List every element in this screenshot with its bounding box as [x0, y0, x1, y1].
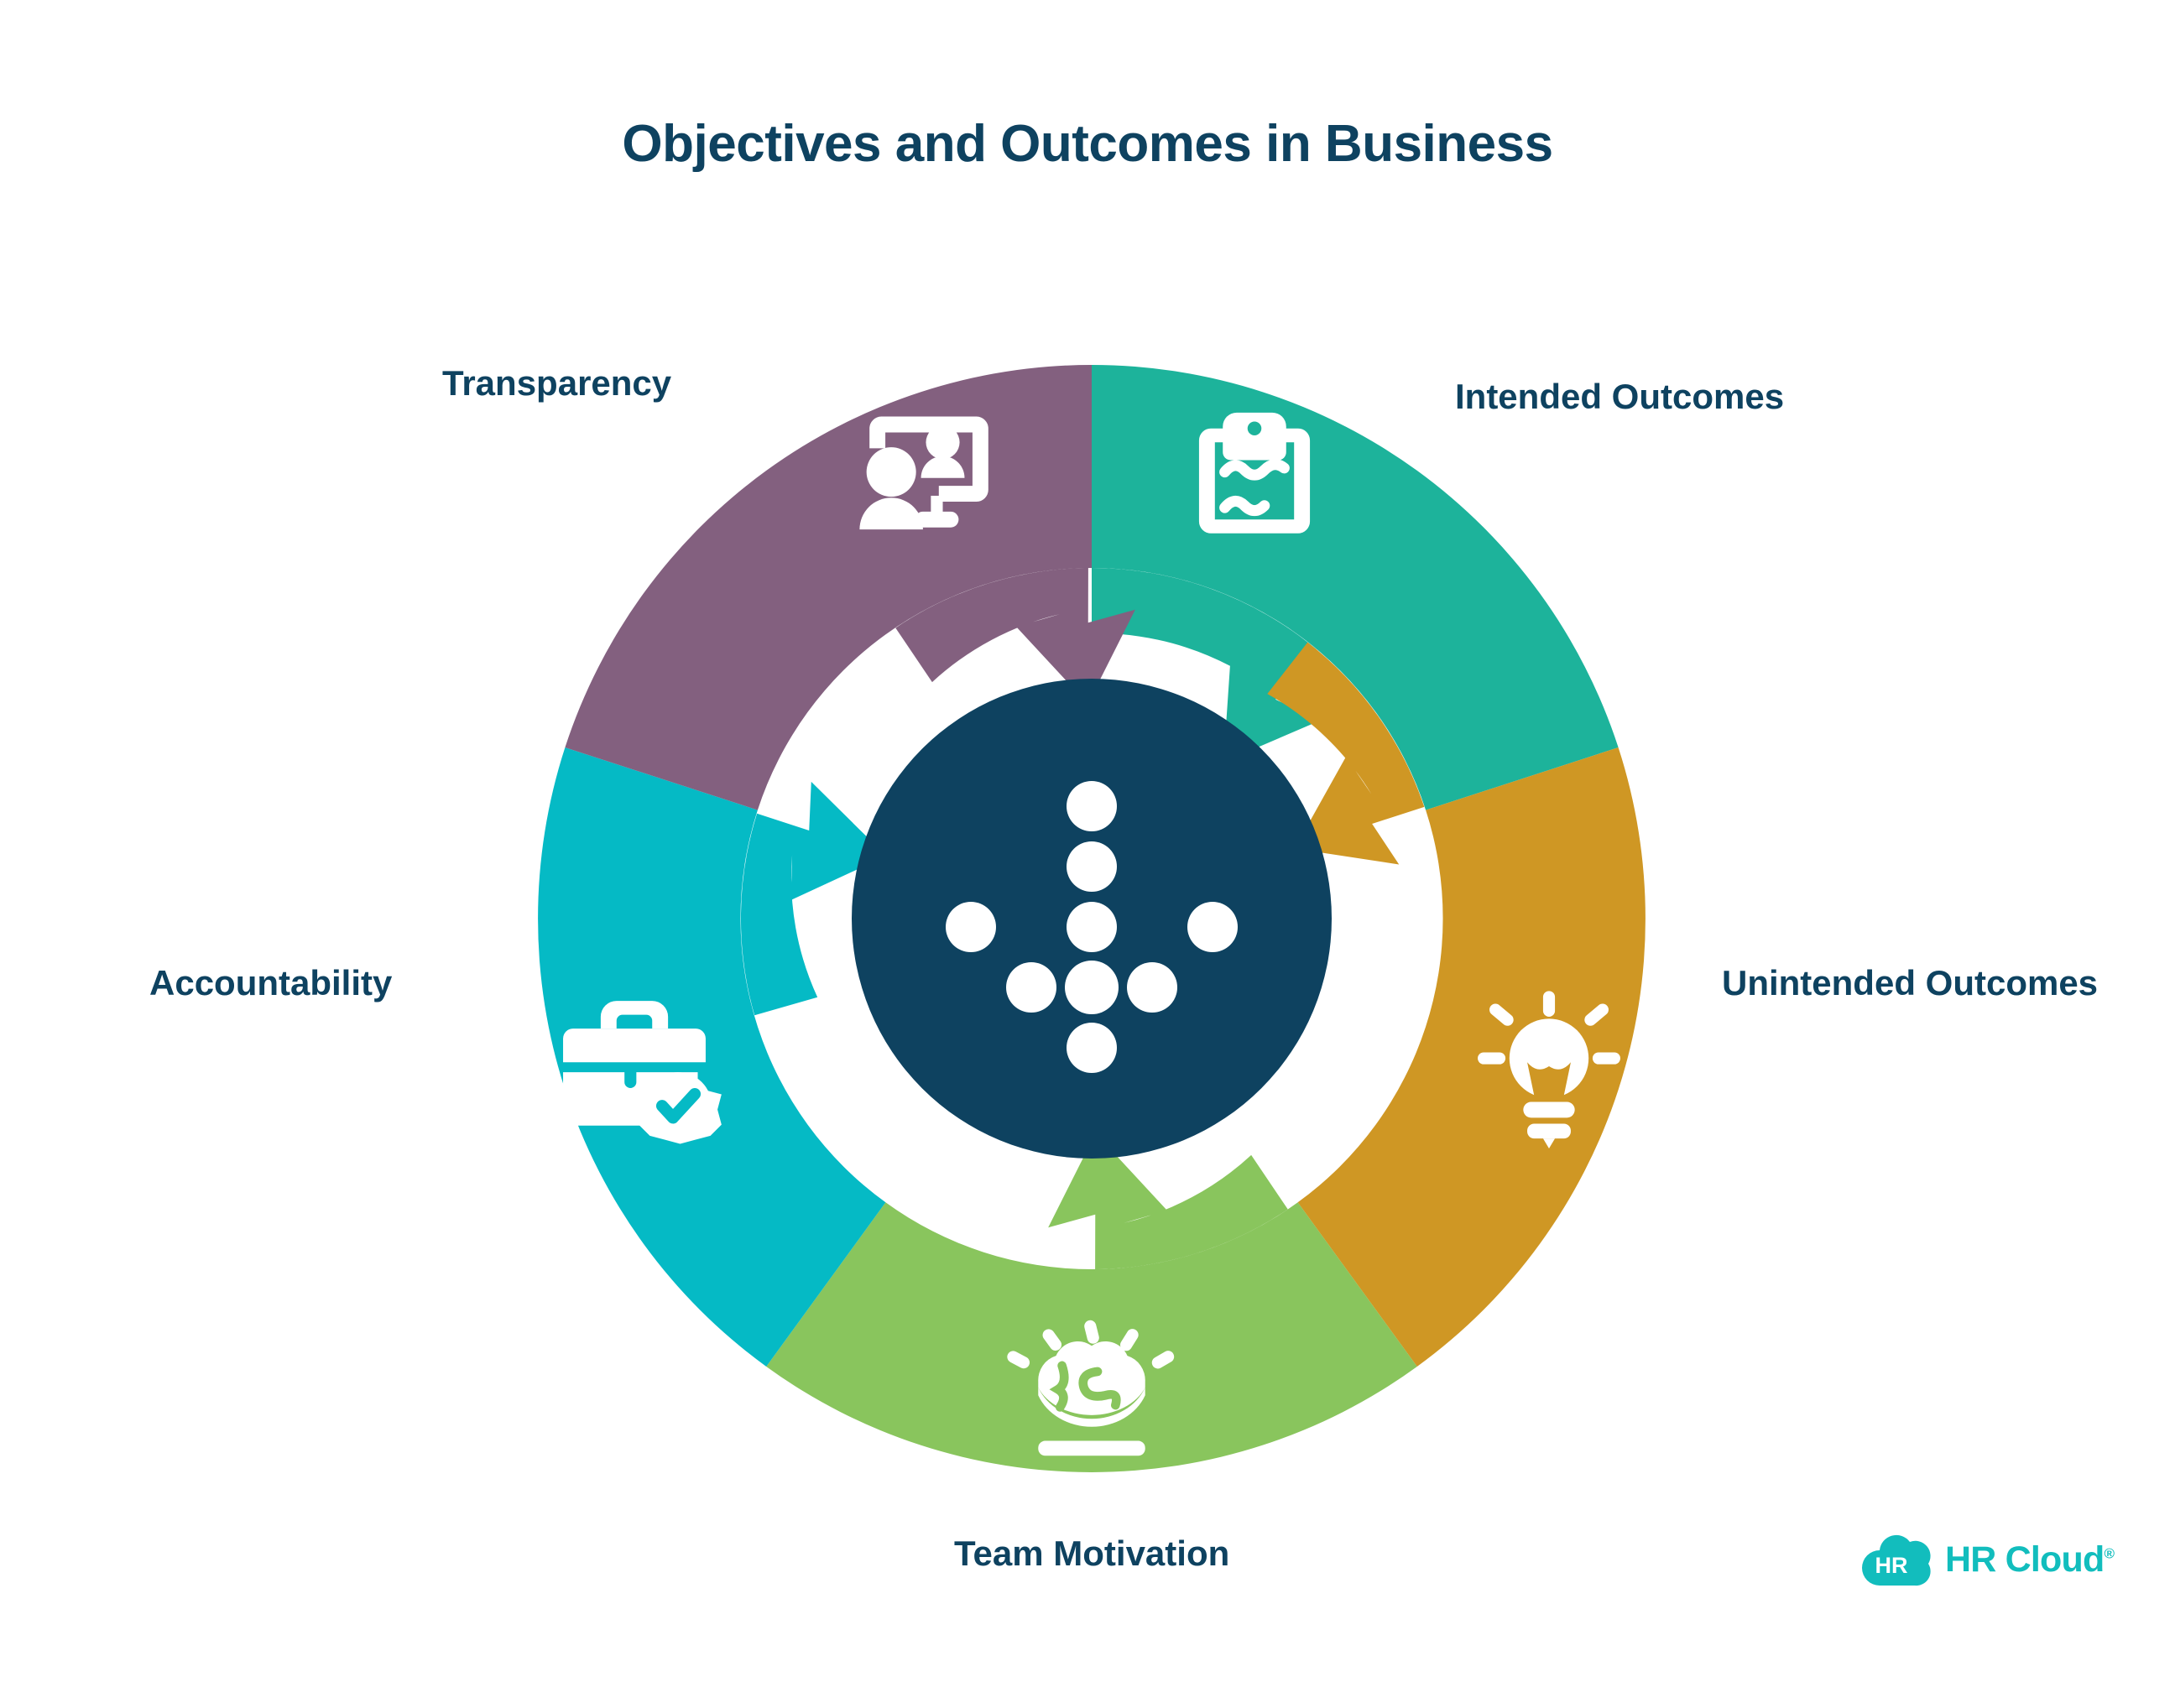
cloud-icon: HR [1861, 1532, 1933, 1587]
segment-label-intended-outcomes[interactable]: Intended Outcomes [1455, 377, 1784, 417]
segment-label-team-motivation[interactable]: Team Motivation [954, 1534, 1229, 1574]
donut-wheel-diagram [534, 361, 1650, 1476]
cloud-mark-text: HR [1875, 1553, 1908, 1578]
page-title: Objectives and Outcomes in Business [0, 114, 2175, 174]
segment-label-unintended-outcomes[interactable]: Unintended Outcomes [1722, 963, 2098, 1003]
segment-label-accountability[interactable]: Accountability [149, 963, 392, 1003]
segment-label-transparency[interactable]: Transparency [442, 363, 671, 404]
registered-mark: ® [2104, 1545, 2114, 1561]
hr-cloud-logo[interactable]: HR HR Cloud® [1861, 1532, 2114, 1587]
brand-name: HR Cloud® [1945, 1542, 2114, 1578]
brand-name-text: HR Cloud [1945, 1539, 2104, 1580]
donut-wheel-svg [534, 361, 1650, 1476]
